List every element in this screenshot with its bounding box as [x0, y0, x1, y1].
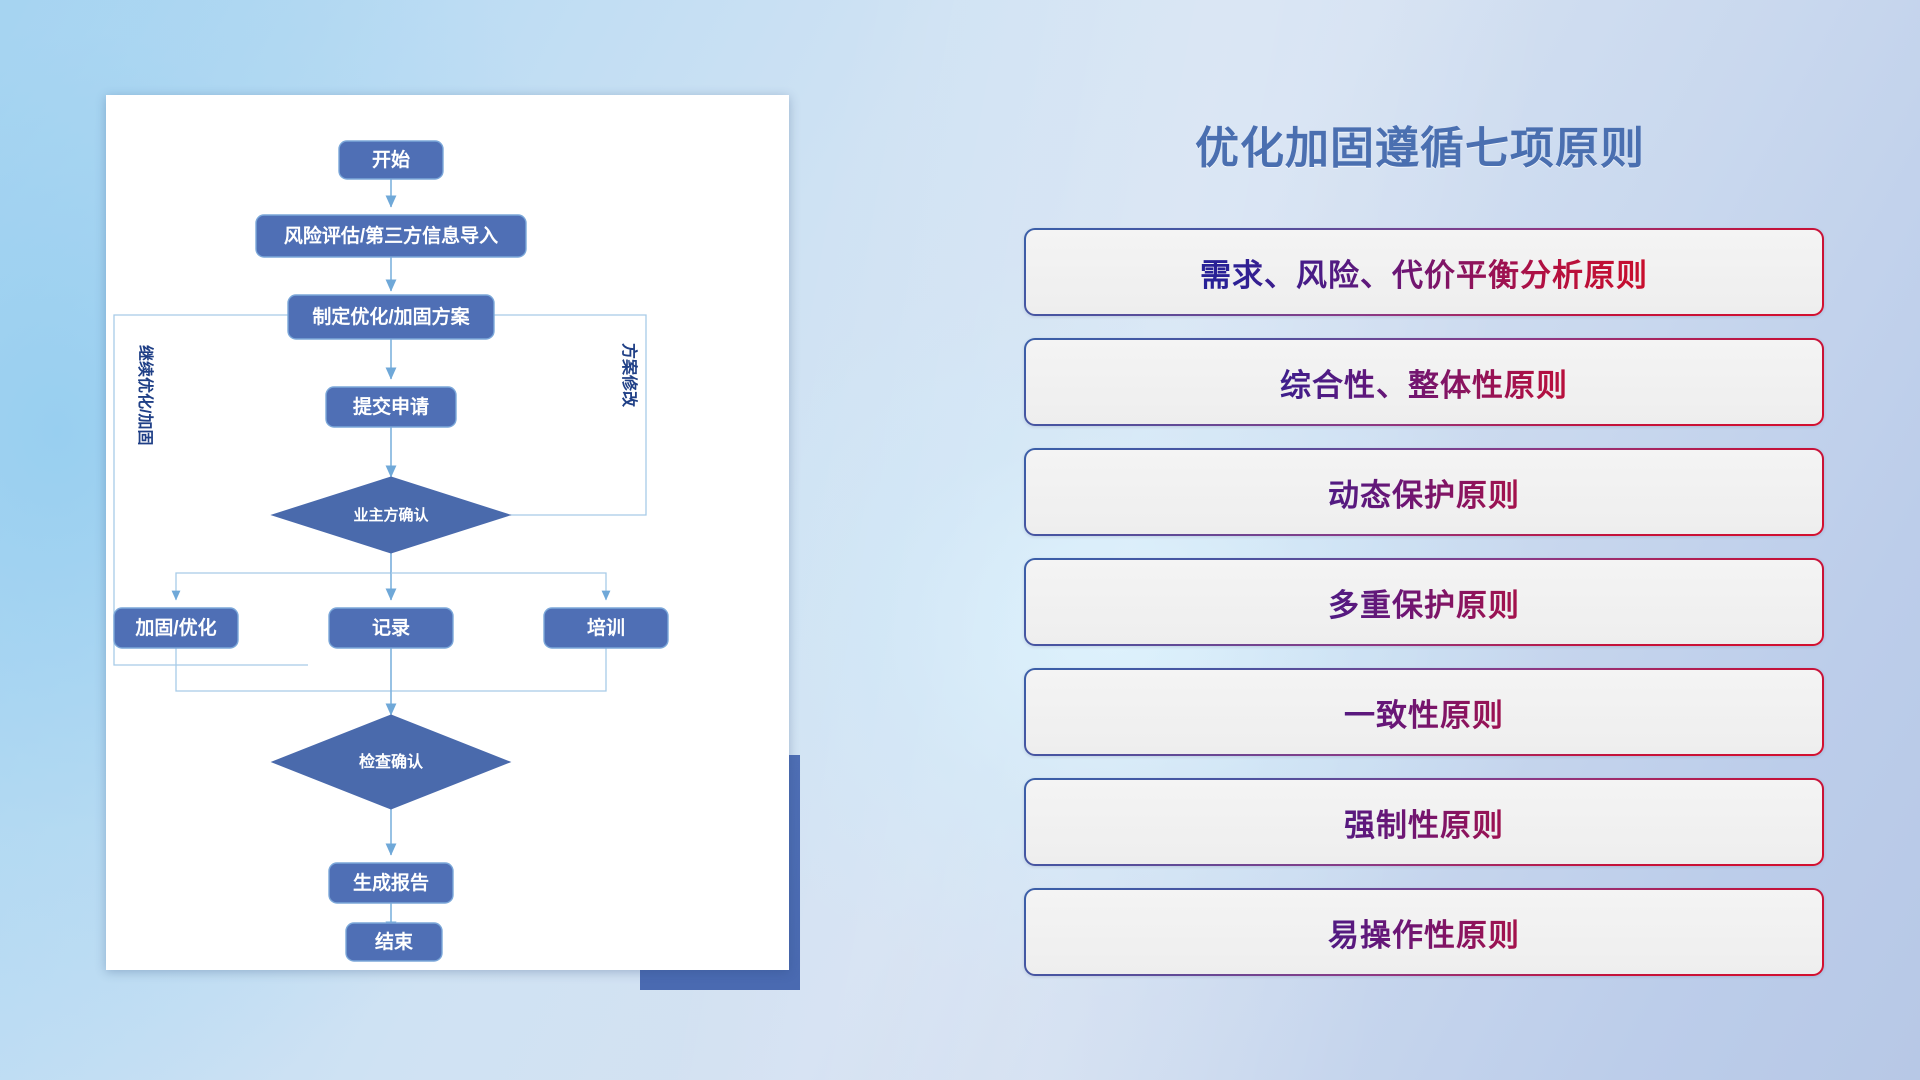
principle-item-4[interactable]: 多重保护原则 [1024, 558, 1824, 646]
principle-item-1[interactable]: 需求、风险、代价平衡分析原则 [1024, 228, 1824, 316]
node-plan-label: 制定优化/加固方案 [312, 305, 470, 328]
node-risk-assessment-label: 风险评估/第三方信息导入 [284, 224, 498, 247]
principles-panel: 优化加固遵循七项原则 需求、风险、代价平衡分析原则 综合性、整体性原则 动态保护… [1020, 0, 1920, 1080]
edge-owner-to-reinforce [176, 553, 391, 600]
node-record[interactable]: 记录 [329, 608, 453, 648]
principle-item-5[interactable]: 一致性原则 [1024, 668, 1824, 756]
principle-label: 需求、风险、代价平衡分析原则 [1024, 228, 1824, 316]
edge-reinforce-to-check [176, 648, 391, 691]
principle-label: 多重保护原则 [1024, 558, 1824, 646]
edge-label-plan-revision: 方案修改 [620, 343, 639, 408]
principle-label: 一致性原则 [1024, 668, 1824, 756]
edge-owner-to-plan-revision [424, 315, 646, 515]
node-start[interactable]: 开始 [339, 141, 443, 179]
principle-item-6[interactable]: 强制性原则 [1024, 778, 1824, 866]
page-title: 优化加固遵循七项原则 [1020, 112, 1820, 176]
node-risk-assessment[interactable]: 风险评估/第三方信息导入 [256, 215, 526, 257]
principle-label: 动态保护原则 [1024, 448, 1824, 536]
node-report-label: 生成报告 [353, 871, 429, 894]
flowchart-panel: 开始 风险评估/第三方信息导入 制定优化/加固方案 提交申请 业主方确认 加固/… [0, 0, 830, 1080]
node-reinforce[interactable]: 加固/优化 [114, 608, 238, 648]
node-report[interactable]: 生成报告 [329, 863, 453, 903]
edge-label-continue-optimize: 继续优化/加固 [136, 345, 155, 445]
node-record-label: 记录 [372, 617, 410, 639]
node-owner-confirm-label: 业主方确认 [353, 506, 429, 524]
principle-item-3[interactable]: 动态保护原则 [1024, 448, 1824, 536]
flowchart-diagram: 开始 风险评估/第三方信息导入 制定优化/加固方案 提交申请 业主方确认 加固/… [106, 95, 789, 970]
node-start-label: 开始 [372, 148, 410, 171]
edge-owner-to-training [391, 573, 606, 600]
node-training-label: 培训 [587, 616, 625, 639]
node-check-confirm[interactable]: 检查确认 [272, 715, 510, 809]
node-reinforce-label: 加固/优化 [134, 616, 216, 639]
node-end[interactable]: 结束 [346, 923, 442, 961]
node-submit[interactable]: 提交申请 [326, 387, 456, 427]
node-submit-label: 提交申请 [353, 395, 429, 418]
principles-list: 需求、风险、代价平衡分析原则 综合性、整体性原则 动态保护原则 多重保护原则 一… [1024, 228, 1824, 998]
principle-label: 易操作性原则 [1024, 888, 1824, 976]
edge-training-to-check [391, 648, 606, 691]
principle-label: 强制性原则 [1024, 778, 1824, 866]
principle-label: 综合性、整体性原则 [1024, 338, 1824, 426]
node-plan[interactable]: 制定优化/加固方案 [288, 295, 494, 339]
node-check-confirm-label: 检查确认 [359, 752, 424, 771]
node-end-label: 结束 [375, 930, 414, 953]
principle-item-7[interactable]: 易操作性原则 [1024, 888, 1824, 976]
node-owner-confirm[interactable]: 业主方确认 [272, 477, 510, 553]
principle-item-2[interactable]: 综合性、整体性原则 [1024, 338, 1824, 426]
node-training[interactable]: 培训 [544, 608, 668, 648]
